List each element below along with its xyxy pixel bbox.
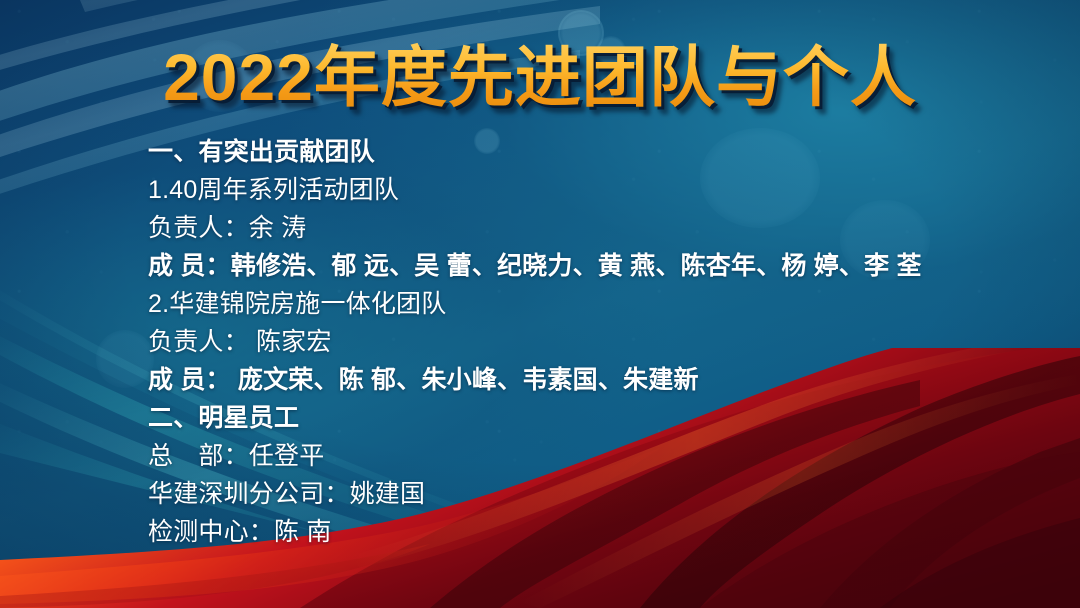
award-list: 一、有突出贡献团队 1.40周年系列活动团队 负责人：余 涛 成 员：韩修浩、郁… bbox=[148, 133, 1008, 551]
list-item: 二、明星员工 bbox=[148, 399, 1008, 437]
page-title: 2022年度先进团队与个人 bbox=[0, 40, 1080, 114]
list-item: 成 员：韩修浩、郁 远、吴 蕾、纪晓力、黄 燕、陈杏年、杨 婷、李 荃 bbox=[148, 247, 1008, 285]
list-item: 总 部：任登平 bbox=[148, 437, 1008, 475]
list-item: 负责人：余 涛 bbox=[148, 209, 1008, 247]
presentation-slide: 2022年度先进团队与个人 一、有突出贡献团队 1.40周年系列活动团队 负责人… bbox=[0, 0, 1080, 608]
list-item: 检测中心：陈 南 bbox=[148, 513, 1008, 551]
list-item: 华建深圳分公司：姚建国 bbox=[148, 475, 1008, 513]
list-item: 1.40周年系列活动团队 bbox=[148, 171, 1008, 209]
list-item: 一、有突出贡献团队 bbox=[148, 133, 1008, 171]
list-item: 2.华建锦院房施一体化团队 bbox=[148, 285, 1008, 323]
list-item: 负责人： 陈家宏 bbox=[148, 323, 1008, 361]
list-item: 成 员： 庞文荣、陈 郁、朱小峰、韦素国、朱建新 bbox=[148, 361, 1008, 399]
